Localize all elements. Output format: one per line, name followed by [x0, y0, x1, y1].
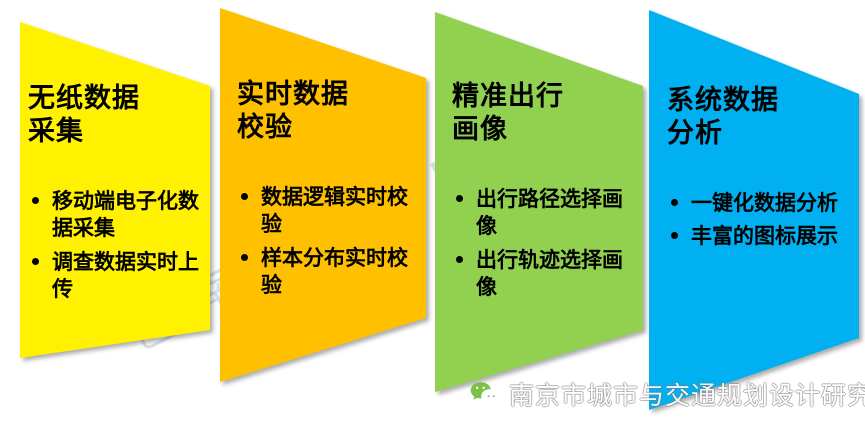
panel-bullet-list: 一键化数据分析 丰富的图标展示 [669, 190, 845, 257]
bullet-dot-icon [456, 195, 463, 202]
diagram-canvas: 印 南京城交院 NJCTPI 无纸数据 采集 移动端电子化数据采集 调查数据实时… [0, 0, 865, 423]
chevron-panel-realtime-validation[interactable]: 实时数据 校验 数据逻辑实时校验 样本分布实时校验 [215, 0, 433, 390]
bullet-item: 丰富的图标展示 [669, 223, 845, 250]
bullet-text: 出行轨迹选择画像 [476, 249, 623, 299]
bullet-dot-icon [241, 254, 248, 261]
panel-bullet-list: 出行路径选择画像 出行轨迹选择画像 [454, 186, 630, 307]
bullet-text: 丰富的图标展示 [691, 225, 838, 248]
bullet-item: 样本分布实时校验 [239, 245, 411, 300]
bullet-item: 移动端电子化数据采集 [30, 188, 202, 243]
panel-bullet-list: 移动端电子化数据采集 调查数据实时上传 [30, 188, 202, 309]
bullet-item: 出行轨迹选择画像 [454, 247, 630, 302]
bullet-dot-icon [671, 199, 678, 206]
panel-title: 实时数据 校验 [237, 78, 413, 144]
bullet-item: 一键化数据分析 [669, 190, 845, 217]
chevron-content: 精准出行 画像 出行路径选择画像 出行轨迹选择画像 [430, 0, 650, 400]
bullet-text: 调查数据实时上传 [52, 251, 199, 301]
bullet-item: 数据逻辑实时校验 [239, 184, 411, 239]
bullet-dot-icon [32, 197, 39, 204]
bullet-dot-icon [241, 193, 248, 200]
panel-title: 精准出行 画像 [452, 80, 632, 146]
bullet-text: 一键化数据分析 [691, 192, 838, 215]
bullet-text: 数据逻辑实时校验 [261, 186, 408, 236]
chevron-content: 无纸数据 采集 移动端电子化数据采集 调查数据实时上传 [2, 0, 217, 360]
chevron-panel-precise-trip-profile[interactable]: 精准出行 画像 出行路径选择画像 出行轨迹选择画像 [430, 0, 650, 400]
panel-title: 无纸数据 采集 [28, 82, 204, 148]
bullet-dot-icon [32, 258, 39, 265]
panel-bullet-list: 数据逻辑实时校验 样本分布实时校验 [239, 184, 411, 305]
chevron-content: 实时数据 校验 数据逻辑实时校验 样本分布实时校验 [215, 0, 433, 390]
chevron-panel-paperless-collection[interactable]: 无纸数据 采集 移动端电子化数据采集 调查数据实时上传 [2, 0, 217, 360]
chevron-panel-system-data-analysis[interactable]: 系统数据 分析 一键化数据分析 丰富的图标展示 [645, 0, 865, 418]
panel-title: 系统数据 分析 [667, 84, 847, 150]
bullet-dot-icon [671, 232, 678, 239]
bullet-item: 调查数据实时上传 [30, 249, 202, 304]
bullet-dot-icon [456, 256, 463, 263]
bullet-text: 样本分布实时校验 [261, 247, 408, 297]
bullet-item: 出行路径选择画像 [454, 186, 630, 241]
bullet-text: 出行路径选择画像 [476, 188, 623, 238]
chevron-content: 系统数据 分析 一键化数据分析 丰富的图标展示 [645, 0, 865, 418]
bullet-text: 移动端电子化数据采集 [52, 190, 199, 240]
